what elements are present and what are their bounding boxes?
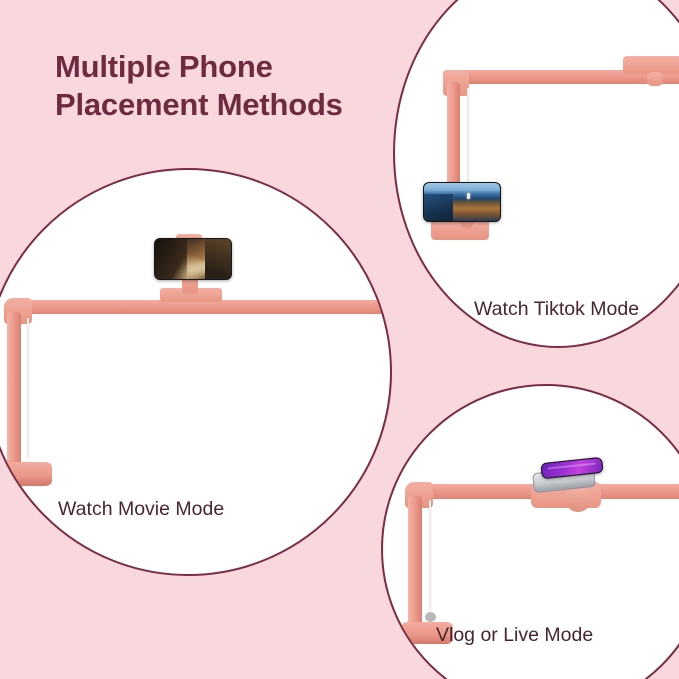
coastal-lighthouse-image [424,183,500,221]
vlog-vertical-post [408,496,422,636]
tiktok-clamp-screw [647,72,663,86]
vlog-mount-pivot [565,486,591,512]
panel-label-watch-movie: Watch Movie Mode [58,498,224,521]
movie-phone [154,238,232,280]
desert-canyon-image [155,239,231,279]
movie-vertical-post [7,312,21,474]
vlog-wire-clip [425,612,436,622]
product-infographic: Multiple Phone Placement Methods Watch T… [0,0,679,679]
tiktok-phone-screen [424,183,500,221]
movie-base [0,462,52,486]
movie-support-wire [27,318,29,458]
movie-phone-screen [155,239,231,279]
panel-label-vlog-or-live: Vlog or Live Mode [436,624,593,647]
panel-vlog-or-live: Vlog or Live Mode [381,384,679,679]
page-title: Multiple Phone Placement Methods [55,48,395,124]
panel-watch-movie: Watch Movie Mode [0,168,392,576]
panel-label-watch-tiktok: Watch Tiktok Mode [474,298,639,321]
panel-watch-tiktok: Watch Tiktok Mode [393,0,679,348]
tiktok-phone [423,182,501,222]
vlog-support-wire [429,500,431,616]
movie-horizontal-arm [8,300,390,314]
